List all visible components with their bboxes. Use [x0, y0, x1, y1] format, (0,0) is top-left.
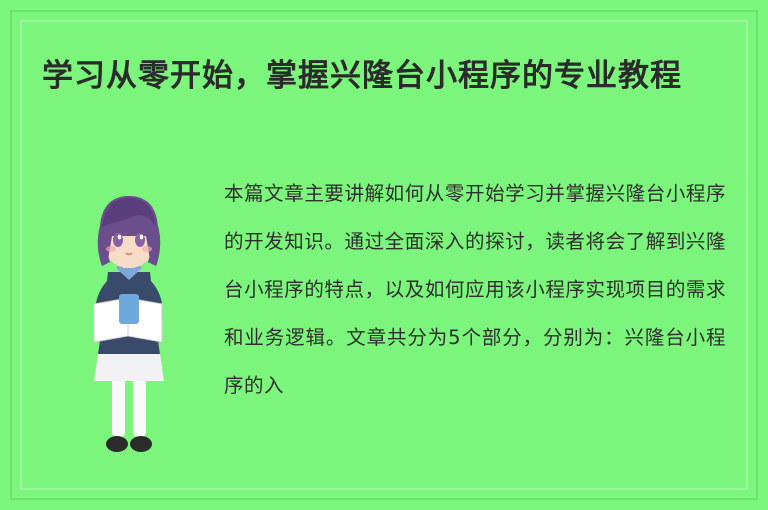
- article-paragraph: 本篇文章主要讲解如何从零开始学习并掌握兴隆台小程序的开发知识。通过全面深入的探讨…: [224, 170, 726, 410]
- anime-girl-with-book-illustration: [64, 176, 194, 476]
- article-body: 本篇文章主要讲解如何从零开始学习并掌握兴隆台小程序的开发知识。通过全面深入的探讨…: [42, 170, 726, 480]
- page-title: 学习从零开始，掌握兴隆台小程序的专业教程: [42, 52, 732, 100]
- article-card: 学习从零开始，掌握兴隆台小程序的专业教程: [0, 0, 768, 510]
